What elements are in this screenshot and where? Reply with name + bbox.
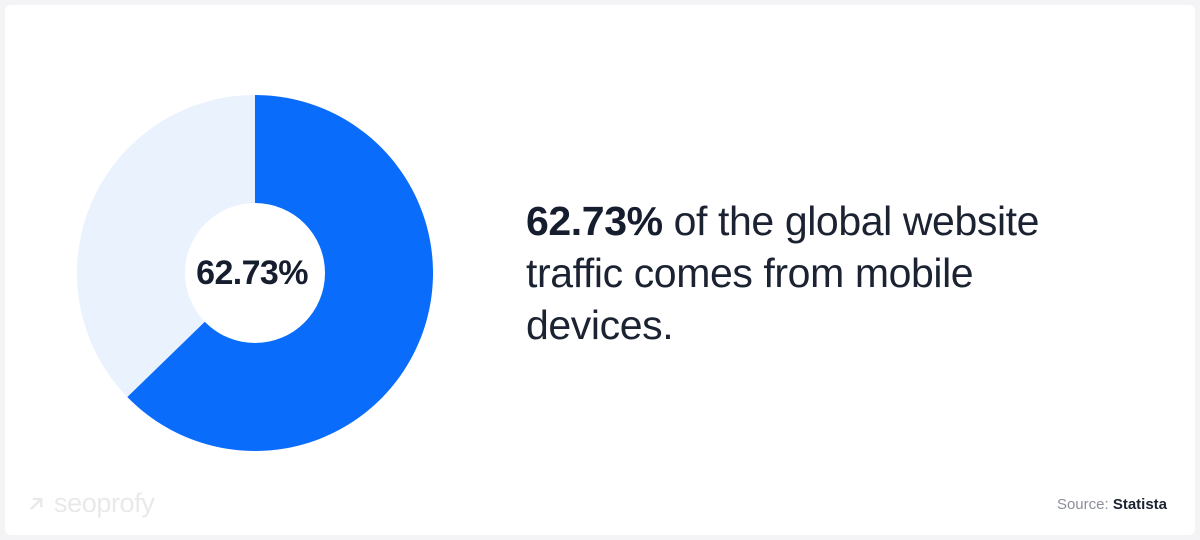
headline-stat: 62.73% — [526, 198, 663, 244]
source-label: Source: — [1057, 496, 1109, 513]
headline: 62.73% of the global website traffic com… — [526, 195, 1126, 351]
donut-hole — [185, 203, 325, 343]
source-name: Statista — [1113, 496, 1167, 513]
donut-chart-svg — [77, 95, 433, 451]
source-attribution: Source: Statista — [1057, 496, 1167, 513]
brand-logo-text: seoprofy — [54, 490, 154, 517]
donut-chart: 62.73% — [77, 95, 433, 451]
arrow-up-right-icon — [27, 494, 47, 514]
brand-logo[interactable]: seoprofy — [27, 490, 154, 517]
infographic-card: 62.73% 62.73% of the global website traf… — [5, 5, 1195, 535]
